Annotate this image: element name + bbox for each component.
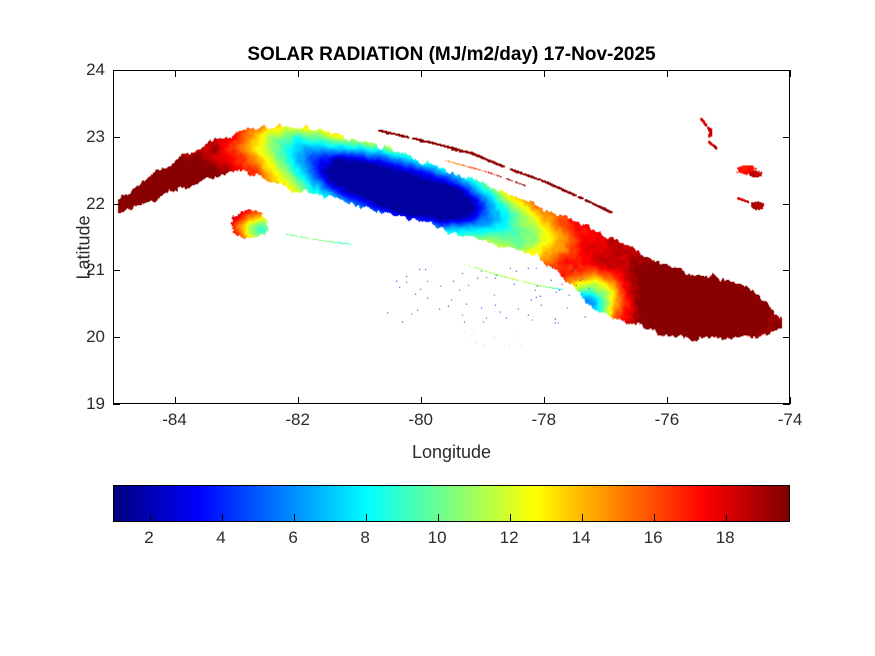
y-tick [113,404,120,405]
x-tick [421,70,422,77]
y-axis-title: Latitude [74,158,95,338]
x-tick-label: -76 [655,410,680,430]
y-tick [783,70,790,71]
x-tick-label: -84 [162,410,187,430]
colorbar-tick-label: 2 [144,528,153,548]
colorbar-tick [438,514,439,521]
x-tick [544,70,545,77]
x-tick [421,397,422,404]
x-tick [544,397,545,404]
x-tick [298,70,299,77]
solar-radiation-heatmap [114,71,789,403]
x-tick-label: -80 [408,410,433,430]
colorbar-tick [726,514,727,521]
colorbar-tick-label: 4 [216,528,225,548]
colorbar-tick-label: 8 [360,528,369,548]
x-tick [175,70,176,77]
solar-radiation-figure: SOLAR RADIATION (MJ/m2/day) 17-Nov-2025 … [0,0,875,656]
x-tick [790,397,791,404]
colorbar [113,485,790,522]
y-tick [783,270,790,271]
x-tick-label: -78 [532,410,557,430]
y-tick [113,270,120,271]
y-tick-label: 23 [0,127,105,147]
x-tick [175,397,176,404]
colorbar-tick [294,514,295,521]
y-tick [783,337,790,338]
colorbar-tick-label: 16 [644,528,663,548]
y-tick [113,137,120,138]
colorbar-tick [582,514,583,521]
y-tick [113,204,120,205]
y-tick [783,204,790,205]
x-tick-label: -74 [778,410,803,430]
colorbar-tick-label: 18 [716,528,735,548]
colorbar-tick-label: 10 [428,528,447,548]
x-axis-title: Longitude [113,442,790,463]
y-tick [113,70,120,71]
colorbar-tick-label: 14 [572,528,591,548]
x-tick-label: -82 [285,410,310,430]
y-tick [113,337,120,338]
colorbar-tick [222,514,223,521]
y-tick-label: 24 [0,60,105,80]
y-tick-label: 19 [0,394,105,414]
map-axes [113,70,790,404]
page-title: SOLAR RADIATION (MJ/m2/day) 17-Nov-2025 [113,44,790,66]
colorbar-tick-label: 12 [500,528,519,548]
colorbar-gradient [114,486,789,521]
y-tick [783,137,790,138]
x-tick [790,70,791,77]
y-tick [783,404,790,405]
colorbar-tick [654,514,655,521]
x-tick [667,397,668,404]
x-tick [667,70,668,77]
x-tick [298,397,299,404]
colorbar-tick [366,514,367,521]
colorbar-tick-label: 6 [288,528,297,548]
colorbar-tick [510,514,511,521]
colorbar-tick [150,514,151,521]
